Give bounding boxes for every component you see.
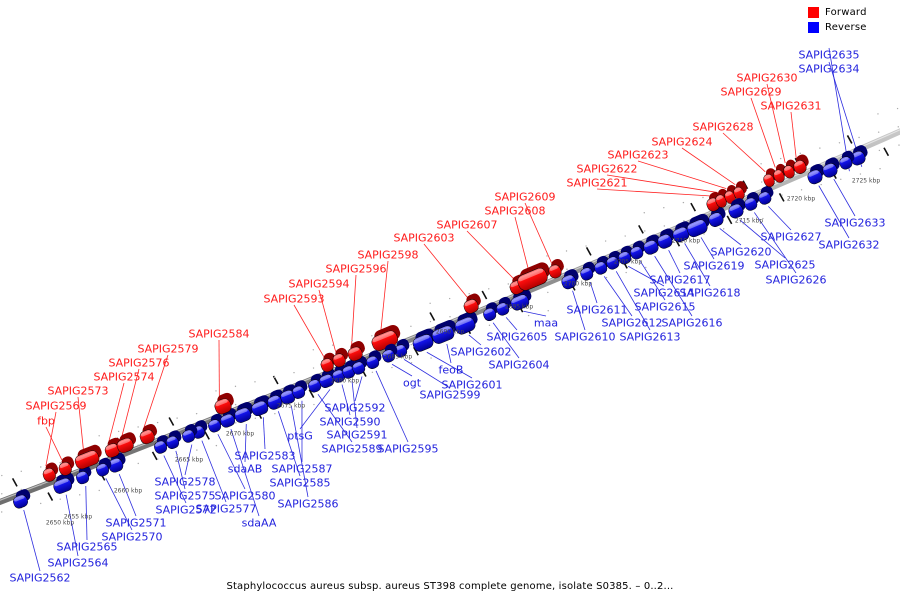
gene-label[interactable]: SAPIG2609 bbox=[494, 192, 555, 203]
gene-label[interactable]: SAPIG2571 bbox=[105, 518, 166, 529]
axis-tick-label: 2675 kbp bbox=[277, 403, 305, 410]
gene-label[interactable]: SAPIG2580 bbox=[214, 491, 275, 502]
genome-caption: Staphylococcus aureus subsp. aureus ST39… bbox=[0, 581, 900, 592]
axis-tick-label: 2715 kbp bbox=[735, 218, 763, 225]
gene-label[interactable]: SAPIG2628 bbox=[692, 122, 753, 133]
gene-label[interactable]: SAPIG2630 bbox=[736, 73, 797, 84]
gene-label[interactable]: SAPIG2615 bbox=[634, 302, 695, 313]
legend-item-reverse: Reverse bbox=[808, 21, 894, 34]
gene-label[interactable]: SAPIG2577 bbox=[195, 504, 256, 515]
legend-item-forward: Forward bbox=[808, 6, 894, 19]
gene-label[interactable]: feoB bbox=[439, 365, 464, 376]
gene-label[interactable]: SAPIG2629 bbox=[720, 87, 781, 98]
gene-label[interactable]: SAPIG2623 bbox=[607, 150, 668, 161]
gene-label[interactable]: SAPIG2601 bbox=[441, 380, 502, 391]
gene-label[interactable]: SAPIG2569 bbox=[25, 401, 86, 412]
genome-map-viewer: SAPIG2562SAPIG2564SAPIG2565SAPIG2569fbpS… bbox=[0, 0, 900, 600]
gene-label[interactable]: SAPIG2633 bbox=[824, 218, 885, 229]
axis-tick-label: 2670 kbp bbox=[226, 431, 254, 438]
gene-label[interactable]: SAPIG2608 bbox=[484, 206, 545, 217]
axis-tick-label: 2650 kbp bbox=[46, 520, 74, 527]
gene-feature[interactable] bbox=[514, 260, 554, 292]
gene-label[interactable]: maa bbox=[534, 318, 558, 329]
gene-label[interactable]: SAPIG2587 bbox=[271, 464, 332, 475]
gene-label[interactable]: SAPIG2605 bbox=[486, 332, 547, 343]
gene-label[interactable]: SAPIG2596 bbox=[325, 264, 386, 275]
gene-label[interactable]: SAPIG2610 bbox=[554, 332, 615, 343]
gene-label[interactable]: SAPIG2617 bbox=[649, 275, 710, 286]
gene-label[interactable]: SAPIG2583 bbox=[234, 451, 295, 462]
gene-label[interactable]: fbp bbox=[37, 416, 55, 427]
axis-tick-label: 2695 kbp bbox=[505, 304, 533, 311]
gene-label[interactable]: ptsG bbox=[287, 431, 313, 442]
gene-label[interactable]: SAPIG2575 bbox=[154, 491, 215, 502]
gene-label[interactable]: SAPIG2631 bbox=[760, 101, 821, 112]
gene-label[interactable]: SAPIG2624 bbox=[651, 137, 712, 148]
axis-tick-label: 2720 kbp bbox=[787, 196, 815, 203]
gene-label[interactable]: SAPIG2625 bbox=[754, 260, 815, 271]
gene-label[interactable]: SAPIG2607 bbox=[436, 220, 497, 231]
axis-tick-label: 2700 kbp bbox=[564, 281, 592, 288]
legend-label-forward: Forward bbox=[825, 7, 867, 18]
gene-label[interactable]: SAPIG2613 bbox=[619, 332, 680, 343]
gene-label[interactable]: SAPIG2618 bbox=[679, 288, 740, 299]
axis-tick-label: 2660 kbp bbox=[114, 488, 142, 495]
axis-tick-label: 2710 kbp bbox=[672, 238, 700, 245]
gene-label[interactable]: SAPIG2593 bbox=[263, 294, 324, 305]
axis-tick-label: 2655 kbp bbox=[64, 514, 92, 521]
gene-label[interactable]: SAPIG2585 bbox=[269, 478, 330, 489]
gene-label[interactable]: SAPIG2579 bbox=[137, 344, 198, 355]
gene-label[interactable]: SAPIG2570 bbox=[101, 532, 162, 543]
gene-label[interactable]: SAPIG2584 bbox=[188, 329, 249, 340]
gene-label[interactable]: SAPIG2620 bbox=[710, 247, 771, 258]
legend-label-reverse: Reverse bbox=[825, 22, 867, 33]
gene-label[interactable]: SAPIG2576 bbox=[108, 358, 169, 369]
strand-legend: Forward Reverse bbox=[808, 6, 894, 36]
gene-label[interactable]: SAPIG2573 bbox=[47, 386, 108, 397]
gene-label[interactable]: SAPIG2612 bbox=[601, 318, 662, 329]
gene-label[interactable]: ogt bbox=[403, 378, 421, 389]
gene-features-layer bbox=[10, 143, 871, 509]
gene-label[interactable]: SAPIG2635 bbox=[798, 50, 859, 61]
gene-label[interactable]: SAPIG2586 bbox=[277, 499, 338, 510]
gene-label[interactable]: SAPIG2598 bbox=[357, 250, 418, 261]
axis-tick-label: 2685 kbp bbox=[384, 354, 412, 361]
gene-label[interactable]: SAPIG2619 bbox=[683, 261, 744, 272]
gene-label[interactable]: SAPIG2594 bbox=[288, 279, 349, 290]
gene-label[interactable]: sdaAB bbox=[228, 464, 263, 475]
gene-label[interactable]: SAPIG2616 bbox=[661, 318, 722, 329]
gene-label[interactable]: SAPIG2627 bbox=[760, 232, 821, 243]
gene-label[interactable]: SAPIG2590 bbox=[319, 417, 380, 428]
axis-tick-label: 2725 kbp bbox=[852, 178, 880, 185]
gene-label[interactable]: SAPIG2595 bbox=[377, 444, 438, 455]
gene-label[interactable]: SAPIG2574 bbox=[93, 372, 154, 383]
gene-label[interactable]: SAPIG2634 bbox=[798, 64, 859, 75]
gene-label[interactable]: SAPIG2589 bbox=[321, 444, 382, 455]
gene-label[interactable]: SAPIG2632 bbox=[818, 240, 879, 251]
gene-label[interactable]: sdaAA bbox=[242, 518, 277, 529]
gene-label[interactable]: SAPIG2611 bbox=[566, 305, 627, 316]
gene-label[interactable]: SAPIG2602 bbox=[450, 347, 511, 358]
gene-label[interactable]: SAPIG2603 bbox=[393, 233, 454, 244]
forward-strand-swatch bbox=[808, 7, 819, 18]
gene-label[interactable]: SAPIG2578 bbox=[154, 477, 215, 488]
gene-label[interactable]: SAPIG2626 bbox=[765, 275, 826, 286]
gene-label[interactable]: SAPIG2621 bbox=[566, 178, 627, 189]
axis-tick-label: 2705 kbp bbox=[614, 259, 642, 266]
gene-label[interactable]: SAPIG2564 bbox=[47, 558, 108, 569]
gene-label[interactable]: SAPIG2592 bbox=[324, 403, 385, 414]
axis-tick-label: 2665 kbp bbox=[175, 457, 203, 464]
gene-label[interactable]: SAPIG2591 bbox=[326, 430, 387, 441]
gene-label[interactable]: SAPIG2622 bbox=[576, 164, 637, 175]
gene-label[interactable]: SAPIG2604 bbox=[488, 360, 549, 371]
axis-tick-label: 2680 kbp bbox=[331, 378, 359, 385]
axis-tick-label: 2690 kbp bbox=[436, 329, 464, 336]
reverse-strand-swatch bbox=[808, 22, 819, 33]
